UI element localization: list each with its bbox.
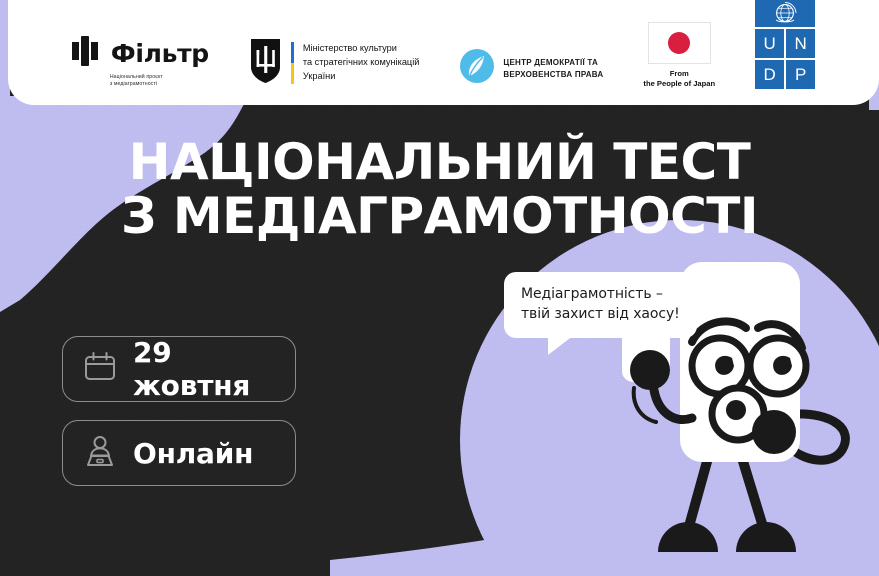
cedem-name: ЦЕНТР ДЕМОКРАТІЇ ТА ВЕРХОВЕНСТВА ПРАВА <box>503 57 603 80</box>
ministry-name: Міністерство культури та стратегічних ко… <box>303 42 419 83</box>
event-format-pill[interactable]: Онлайн <box>62 420 296 486</box>
speech-bubble: Медіаграмотність – твій захист від хаосу… <box>504 272 697 338</box>
event-details: 29 жовтня Онлайн <box>62 336 296 486</box>
undp-letter-u: U <box>755 29 784 58</box>
logo-cedem: ЦЕНТР ДЕМОКРАТІЇ ТА ВЕРХОВЕНСТВА ПРАВА <box>459 48 603 89</box>
partner-logo-bar: Фільтр Національний проєкт з медіаграмот… <box>8 0 879 105</box>
filtr-tagline: Національний проєкт з медіаграмотності <box>72 74 163 89</box>
ukraine-flag-bar <box>291 42 294 84</box>
filtr-wordmark: Фільтр <box>111 39 209 68</box>
quill-feather-icon <box>459 48 495 89</box>
calendar-icon <box>83 350 117 389</box>
undp-letter-p: P <box>786 60 815 89</box>
event-date-pill[interactable]: 29 жовтня <box>62 336 296 402</box>
ukraine-trident-coat-of-arms-icon <box>249 37 282 89</box>
speech-bubble-text: Медіаграмотність – твій захист від хаосу… <box>521 284 680 325</box>
logo-ministry-of-culture: Міністерство культури та стратегічних ко… <box>249 37 419 89</box>
japan-caption: From the People of Japan <box>643 69 715 90</box>
event-date-label: 29 жовтня <box>133 336 275 402</box>
logo-filtr: Фільтр Національний проєкт з медіаграмот… <box>72 36 209 89</box>
poster-canvas: Фільтр Національний проєкт з медіаграмот… <box>0 0 879 576</box>
filtr-mark-icon <box>72 36 104 71</box>
speech-bubble-tail <box>548 335 574 355</box>
undp-letter-d: D <box>755 60 784 89</box>
undp-letter-n: N <box>786 29 815 58</box>
logo-japan: From the People of Japan <box>643 22 715 90</box>
event-format-label: Онлайн <box>133 437 253 470</box>
logo-undp: U N D P <box>755 0 815 89</box>
person-at-laptop-icon <box>83 434 117 473</box>
japan-flag-icon <box>648 22 711 64</box>
un-globe-emblem-icon <box>755 0 815 27</box>
